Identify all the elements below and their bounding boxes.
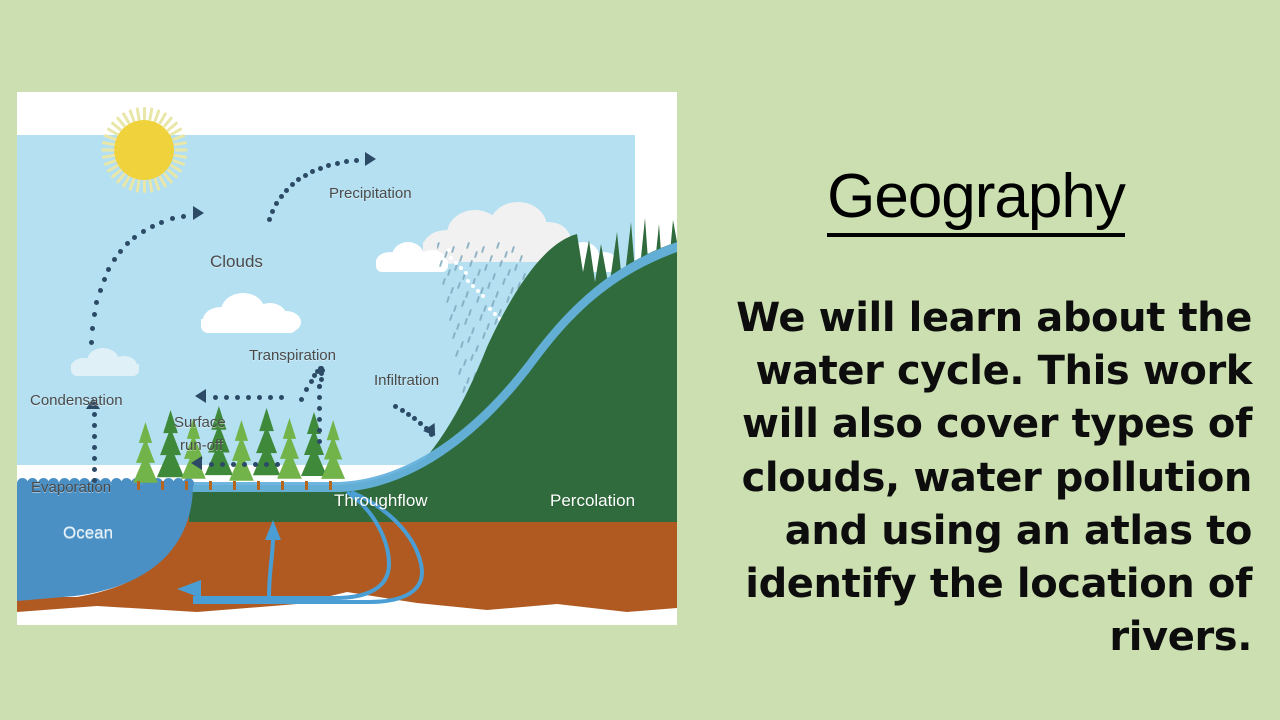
label-precipitation: Precipitation	[329, 185, 412, 202]
water-cycle-diagram: Precipitation Clouds Condensation Transp…	[17, 92, 677, 625]
label-percolation: Percolation	[550, 491, 635, 511]
body-paragraph: We will learn about the water cycle. Thi…	[688, 292, 1252, 664]
label-surface-runoff-line1: Surface	[174, 414, 226, 431]
arrow-dot	[418, 421, 423, 426]
label-condensation: Condensation	[30, 392, 123, 409]
slide: Precipitation Clouds Condensation Transp…	[0, 0, 1280, 720]
page-title-text: Geography	[827, 162, 1125, 237]
infiltration-arrow	[17, 92, 677, 625]
arrow-dot	[406, 412, 411, 417]
arrow-dot	[412, 416, 417, 421]
arrow-dot	[400, 408, 405, 413]
page-title: Geography	[700, 166, 1252, 228]
label-clouds: Clouds	[210, 252, 263, 272]
arrow-dot	[393, 404, 398, 409]
label-ocean: Ocean	[63, 523, 113, 543]
label-surface-runoff-line2: run-off	[180, 437, 223, 454]
label-transpiration: Transpiration	[249, 347, 336, 364]
label-infiltration: Infiltration	[374, 372, 439, 389]
label-evaporation: Evaporation	[31, 479, 111, 496]
label-throughflow: Throughflow	[334, 491, 428, 511]
